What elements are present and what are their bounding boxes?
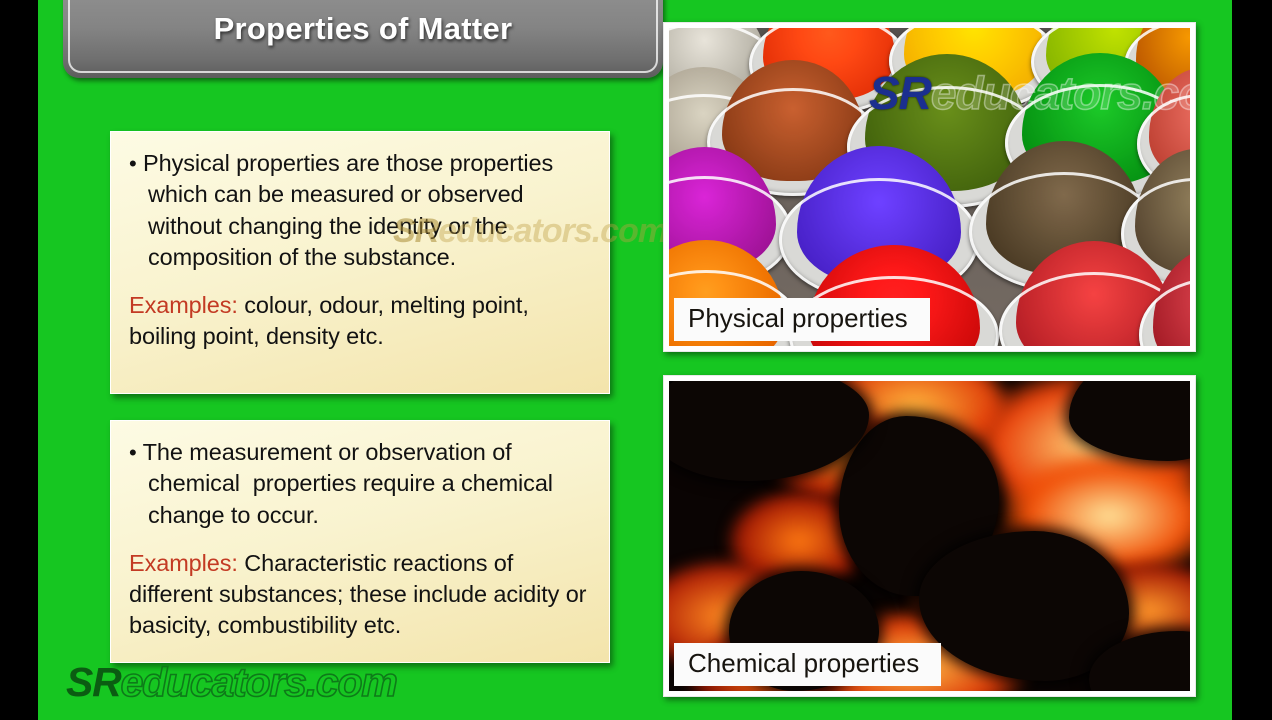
physical-bullet-paragraph: • Physical properties are those properti… — [129, 148, 595, 273]
physical-examples-paragraph: Examples: colour, odour, melting point, … — [129, 290, 595, 353]
chemical-bullet-paragraph: • The measurement or observation of chem… — [129, 437, 595, 531]
photo-frame-physical: SReducators.com Physical properties — [663, 22, 1196, 352]
caption-chemical: Chemical properties — [674, 643, 941, 686]
chemical-bullet-text: The measurement or observation of chemic… — [143, 439, 560, 528]
photo-frame-chemical: Chemical properties — [663, 375, 1196, 697]
examples-label-chemical: Examples: — [129, 550, 238, 576]
logo-rest: educators.com — [121, 659, 397, 705]
sreducators-logo: SReducators.com — [66, 659, 397, 706]
slide-stage: Properties of Matter • Physical properti… — [0, 0, 1272, 720]
bullet-icon: • — [129, 151, 137, 176]
content-box-physical: • Physical properties are those properti… — [110, 131, 610, 394]
bullet-icon: • — [129, 440, 137, 465]
chemical-examples-paragraph: Examples: Characteristic reactions of di… — [129, 548, 595, 642]
caption-physical: Physical properties — [674, 298, 930, 341]
photo-pigment-bowls: SReducators.com Physical properties — [669, 28, 1190, 346]
physical-bullet-text: Physical properties are those properties… — [143, 150, 553, 270]
photo-burning-coals: Chemical properties — [669, 381, 1190, 691]
logo-sr: SR — [66, 659, 121, 705]
content-box-chemical: • The measurement or observation of chem… — [110, 420, 610, 663]
examples-label-physical: Examples: — [129, 292, 238, 318]
title-bar: Properties of Matter — [63, 0, 663, 78]
page-title: Properties of Matter — [63, 11, 663, 47]
slide-canvas: Properties of Matter • Physical properti… — [38, 0, 1232, 720]
